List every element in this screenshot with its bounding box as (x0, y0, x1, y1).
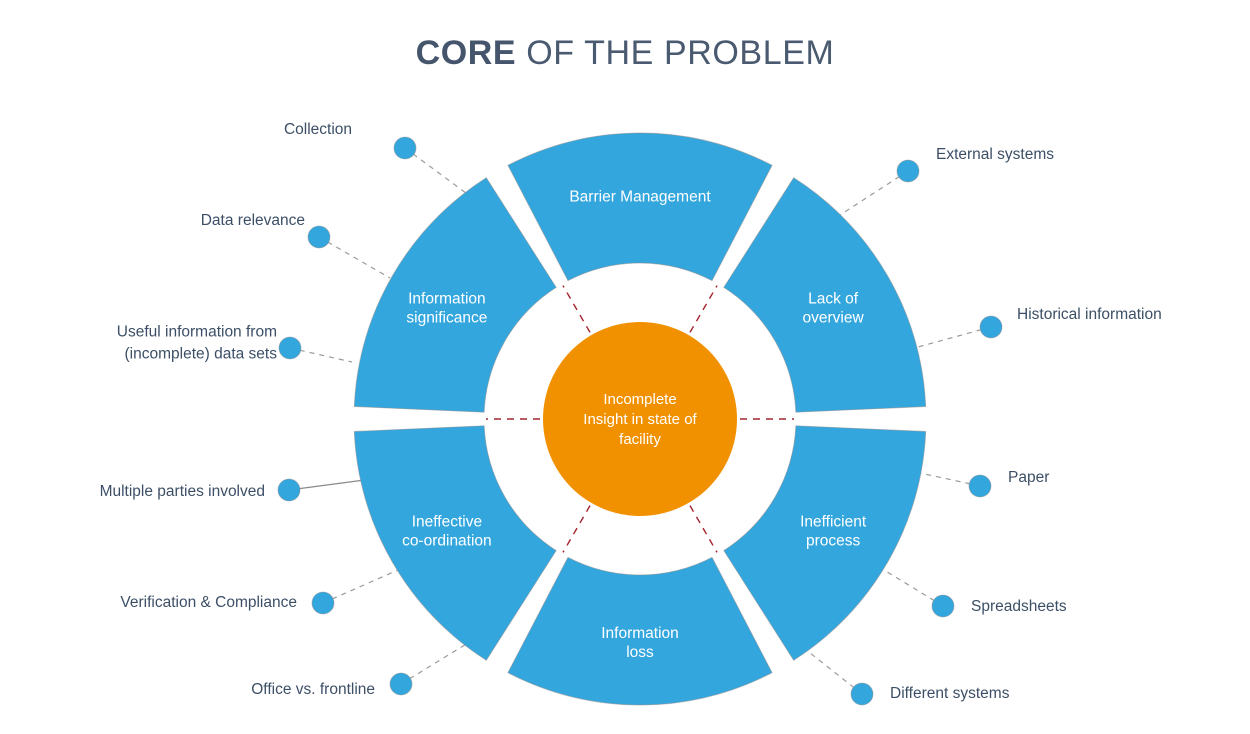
callout-label-data-relevance[interactable]: Data relevance (201, 210, 305, 232)
leader-dot-different-systems[interactable] (851, 683, 873, 705)
spoke-line (690, 506, 717, 553)
leader-dot-historical-information[interactable] (980, 316, 1002, 338)
leader-dot-data-relevance[interactable] (308, 226, 330, 248)
leader-line-office-vs-frontline (401, 643, 468, 684)
leader-dot-paper[interactable] (969, 475, 991, 497)
ring-segment-label-barrier-management: Barrier Management (569, 189, 711, 206)
leader-dot-verification-compliance[interactable] (312, 592, 334, 614)
leader-dot-office-vs-frontline[interactable] (390, 673, 412, 695)
core-of-the-problem-wheel: Barrier ManagementLack ofoverviewIneffic… (0, 0, 1250, 734)
callout-label-useful-information-incomplete-data-sets[interactable]: Useful information from (incomplete) dat… (117, 322, 277, 367)
leader-dot-multiple-parties-involved[interactable] (278, 479, 300, 501)
diagram-canvas: CORE OF THE PROBLEM Barrier ManagementLa… (0, 0, 1250, 734)
callout-label-verification-compliance[interactable]: Verification & Compliance (120, 592, 297, 614)
leader-line-different-systems (800, 645, 862, 694)
spoke-line (690, 286, 717, 333)
callout-label-different-systems[interactable]: Different systems (890, 683, 1009, 705)
ring-segment-barrier-management[interactable] (508, 133, 772, 281)
leader-dot-useful-information-incomplete-data-sets[interactable] (279, 337, 301, 359)
callout-label-office-vs-frontline[interactable]: Office vs. frontline (251, 679, 375, 701)
leader-dot-collection[interactable] (394, 137, 416, 159)
leader-dot-external-systems[interactable] (897, 160, 919, 182)
callout-label-paper[interactable]: Paper (1008, 467, 1049, 489)
leader-line-verification-compliance (323, 570, 398, 603)
leader-dot-spreadsheets[interactable] (932, 595, 954, 617)
leader-line-data-relevance (319, 237, 390, 278)
spoke-line (563, 506, 590, 553)
callout-label-historical-information[interactable]: Historical information (1017, 304, 1162, 326)
leader-line-external-systems (840, 171, 908, 215)
callout-label-multiple-parties-involved[interactable]: Multiple parties involved (100, 481, 265, 503)
callout-label-spreadsheets[interactable]: Spreadsheets (971, 596, 1067, 618)
callout-label-collection[interactable]: Collection (284, 119, 352, 141)
spoke-line (563, 286, 590, 333)
callout-label-external-systems[interactable]: External systems (936, 144, 1054, 166)
leader-line-multiple-parties-involved (289, 479, 372, 490)
leader-line-collection (405, 148, 470, 196)
core-node-group: IncompleteInsight in state offacility (543, 322, 737, 516)
